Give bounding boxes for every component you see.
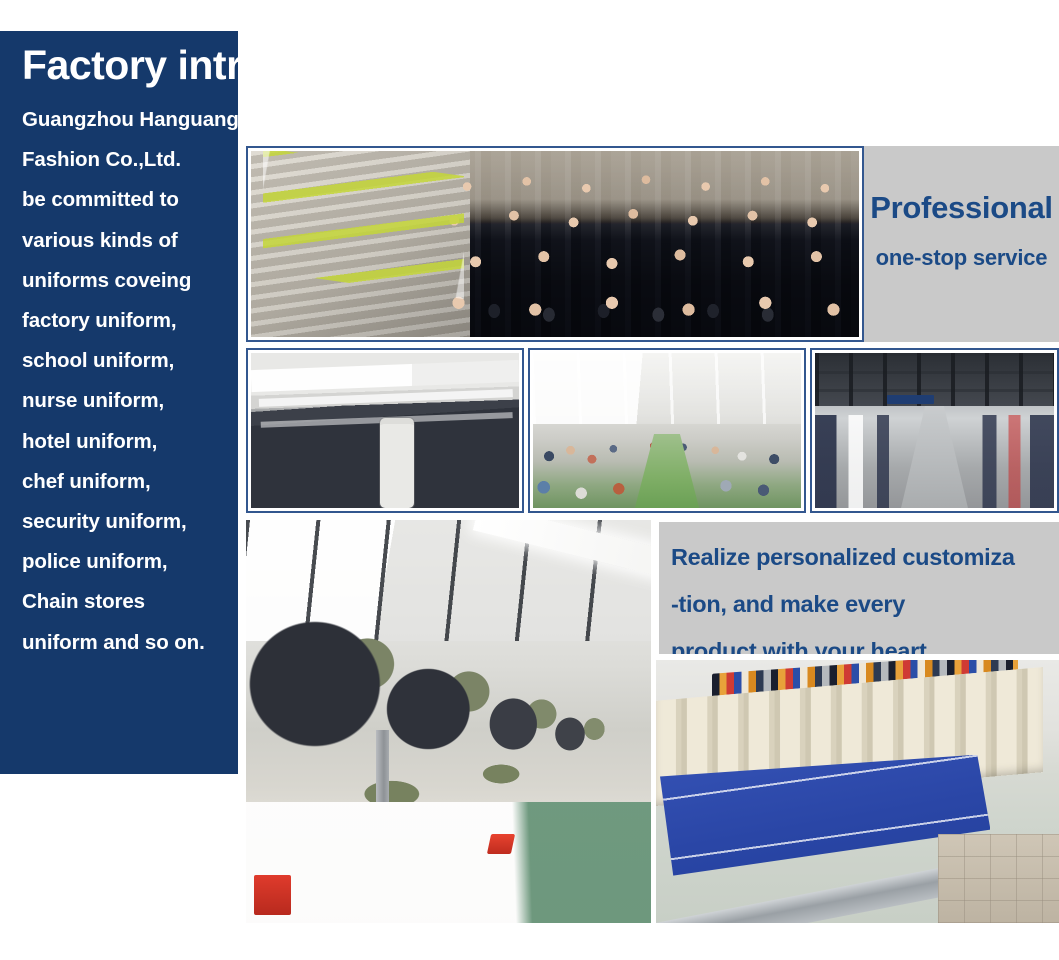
pressing-room-floor [246, 802, 651, 923]
pressing-machines-image [246, 520, 651, 923]
intro-line: Guangzhou Hanguang [22, 100, 238, 140]
photo-warehouse-aisle [810, 348, 1059, 513]
page-title: Factory introduction [22, 45, 238, 86]
red-bin [254, 875, 290, 915]
intro-line: various kinds of [22, 221, 238, 261]
intro-line: uniforms coveing [22, 261, 238, 301]
intro-line: chef uniform, [22, 462, 238, 502]
red-bin [487, 834, 516, 854]
embroidery-floor-tiles [938, 834, 1059, 923]
group-photo-crowd [433, 166, 859, 337]
warehouse-aisle-image [815, 353, 1054, 508]
warehouse-garment-racks [815, 415, 1054, 508]
cutting-room-image [251, 353, 519, 508]
intro-text-block: Guangzhou Hanguang Fashion Co.,Ltd. be c… [22, 100, 238, 663]
photo-embroidery-machine [656, 660, 1059, 923]
intro-line: school uniform, [22, 341, 238, 381]
poster-canvas: Factory introduction Guangzhou Hanguang … [0, 0, 1059, 960]
intro-line: security uniform, [22, 502, 238, 542]
warehouse-hanging-sign [887, 395, 935, 404]
factory-intro-panel: Factory introduction Guangzhou Hanguang … [0, 31, 238, 774]
realize-callout: Realize personalized customiza -tion, an… [659, 522, 1059, 654]
photo-pressing-machines [246, 520, 651, 923]
professional-callout: Professional one-stop service [864, 146, 1059, 342]
realize-line: Realize personalized customiza [671, 534, 1059, 581]
cutting-machine-panel [384, 426, 411, 504]
intro-line: Fashion Co.,Ltd. [22, 140, 238, 180]
intro-line: Chain stores [22, 582, 238, 622]
sewing-line-workers [533, 434, 801, 508]
intro-line: factory uniform, [22, 301, 238, 341]
photo-group-photo [246, 146, 864, 342]
sewing-line-image [533, 353, 801, 508]
intro-line: nurse uniform, [22, 381, 238, 421]
photo-sewing-line [528, 348, 806, 513]
intro-line: hotel uniform, [22, 422, 238, 462]
professional-subtitle: one-stop service [864, 245, 1059, 271]
embroidery-machine-image [656, 660, 1059, 923]
intro-line: police uniform, [22, 542, 238, 582]
realize-line: product with your heart. [671, 628, 1059, 654]
photo-cutting-room [246, 348, 524, 513]
intro-line: be committed to [22, 180, 238, 220]
intro-line: uniform and so on. [22, 623, 238, 663]
professional-title: Professional [864, 192, 1059, 225]
group-photo-image [251, 151, 859, 337]
photo-collage: Professional one-stop service [238, 140, 1059, 930]
realize-line: -tion, and make every [671, 581, 1059, 628]
